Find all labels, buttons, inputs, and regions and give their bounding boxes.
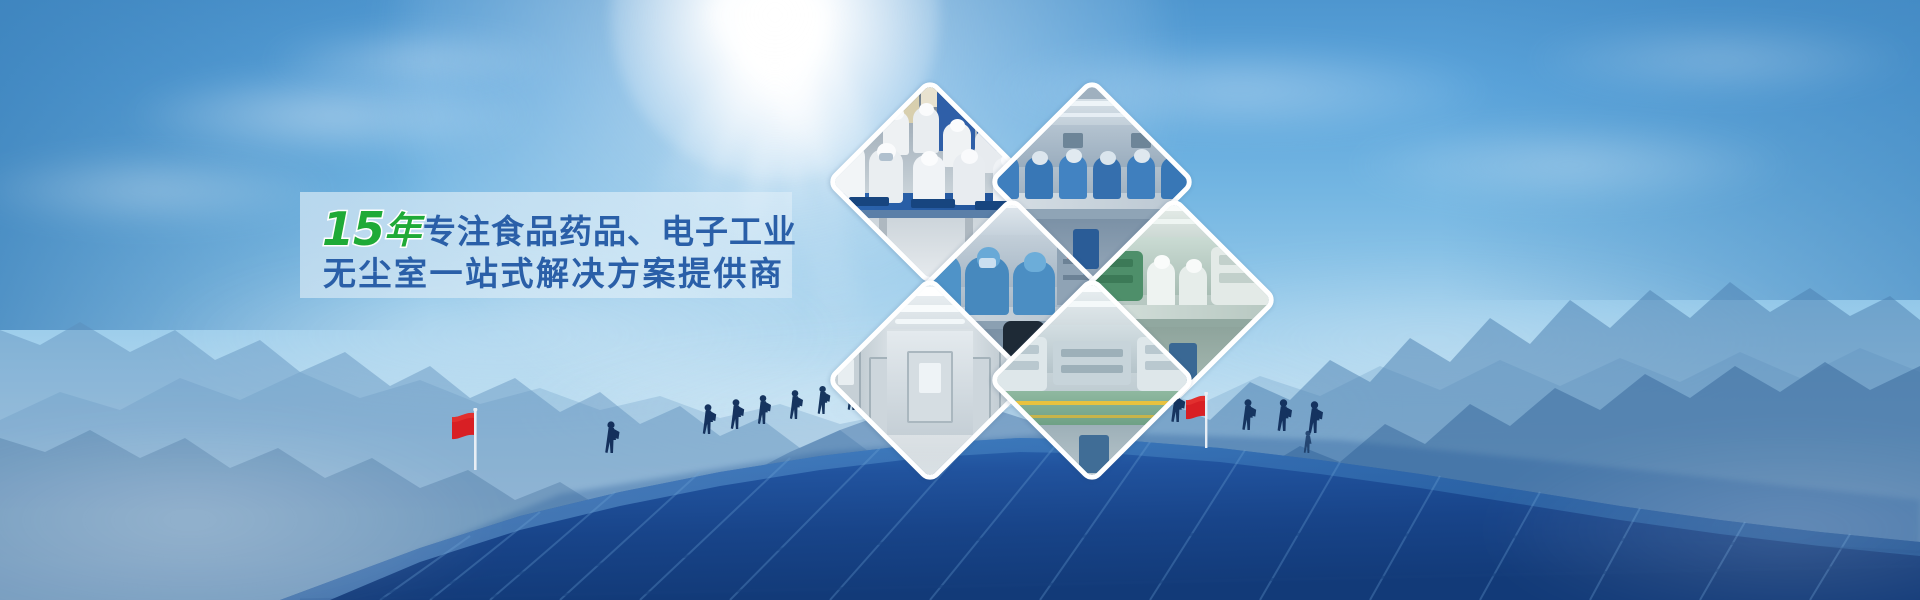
mountain-climber-silhouette	[726, 398, 749, 430]
years-number: 15	[322, 202, 384, 256]
years-unit: 年	[384, 209, 421, 252]
mountain-climber-silhouette	[813, 385, 835, 415]
mountain-climber-silhouette	[753, 394, 776, 425]
headline-line: 15年专注食品药品、电子工业	[322, 206, 792, 252]
cleanroom-photo-collage	[840, 88, 1280, 464]
mountain-climber-silhouette	[600, 420, 624, 454]
mountain-climber-silhouette	[698, 403, 721, 435]
mountain-climber-silhouette	[1303, 400, 1328, 434]
headline-rest: 专注食品药品、电子工业	[423, 212, 797, 251]
subheadline: 无尘室一站式解决方案提供商	[323, 256, 792, 292]
mountain-climber-silhouette	[785, 389, 808, 420]
mountain-climber-silhouette	[1300, 430, 1318, 454]
hero-banner: 15年专注食品药品、电子工业 无尘室一站式解决方案提供商	[0, 0, 1920, 600]
red-summit-flag	[452, 408, 500, 474]
headline-panel: 15年专注食品药品、电子工业 无尘室一站式解决方案提供商	[300, 192, 792, 298]
